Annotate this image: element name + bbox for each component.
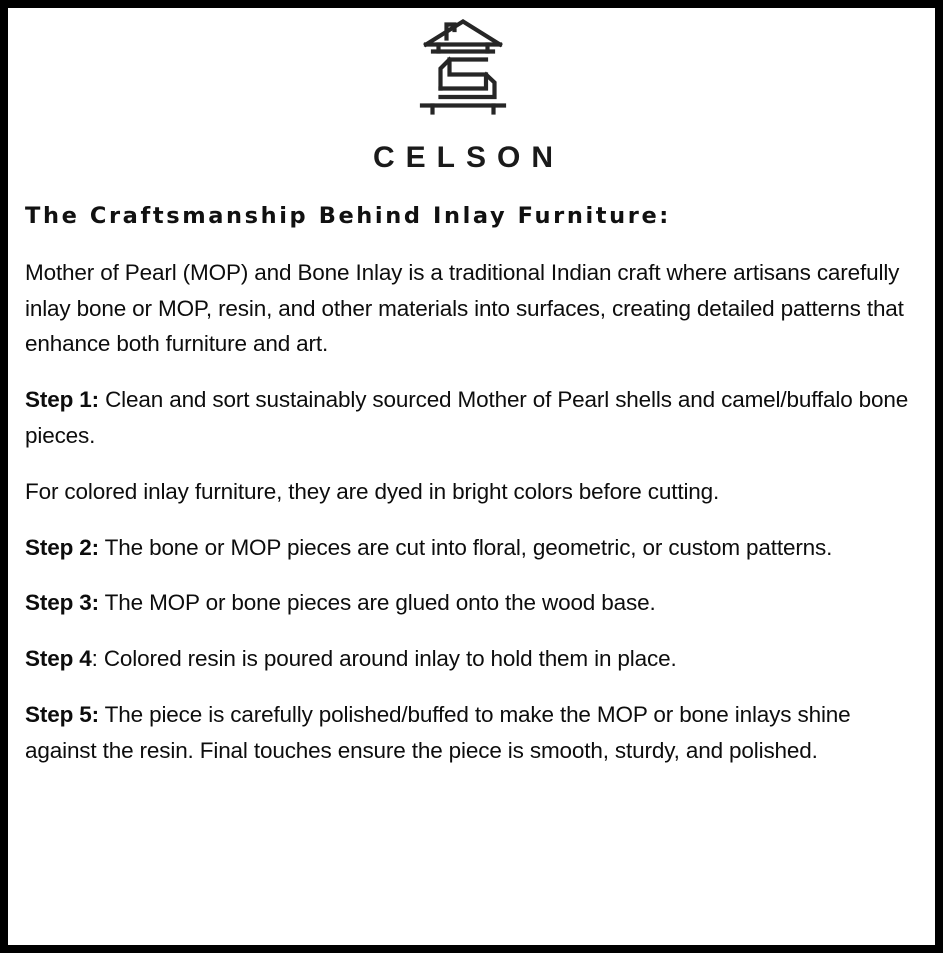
paragraph-step-1: Step 1: Clean and sort sustainably sourc… xyxy=(25,382,917,454)
paragraph-text: The bone or MOP pieces are cut into flor… xyxy=(99,535,832,560)
page-title: The Craftsmanship Behind Inlay Furniture… xyxy=(25,204,909,229)
house-monogram-logo-icon xyxy=(416,18,510,122)
paragraph-step-2: Step 2: The bone or MOP pieces are cut i… xyxy=(25,530,917,566)
brand-header: CELSON xyxy=(17,14,909,173)
poster-card: CELSON The Craftsmanship Behind Inlay Fu… xyxy=(0,0,943,953)
poster-content: CELSON The Craftsmanship Behind Inlay Fu… xyxy=(8,8,935,945)
paragraph-lead: Step 1: xyxy=(25,387,99,412)
paragraph-step-4: Step 4: Colored resin is poured around i… xyxy=(25,641,917,677)
paragraph-dye-note: For colored inlay furniture, they are dy… xyxy=(25,474,917,510)
paragraph-text: : Colored resin is poured around inlay t… xyxy=(92,646,677,671)
paragraph-lead: Step 3: xyxy=(25,590,99,615)
paragraph-lead: Step 4 xyxy=(25,646,92,671)
paragraph-lead: Step 2: xyxy=(25,535,99,560)
paragraph-step-5: Step 5: The piece is carefully polished/… xyxy=(25,697,917,769)
brand-wordmark: CELSON xyxy=(17,143,909,173)
article-body: Mother of Pearl (MOP) and Bone Inlay is … xyxy=(25,255,917,769)
paragraph-intro: Mother of Pearl (MOP) and Bone Inlay is … xyxy=(25,255,917,362)
paragraph-lead: Step 5: xyxy=(25,702,99,727)
paragraph-text: The piece is carefully polished/buffed t… xyxy=(25,702,851,763)
paragraph-step-3: Step 3: The MOP or bone pieces are glued… xyxy=(25,585,917,621)
paragraph-text: Clean and sort sustainably sourced Mothe… xyxy=(25,387,908,448)
paragraph-text: For colored inlay furniture, they are dy… xyxy=(25,479,719,504)
paragraph-text: Mother of Pearl (MOP) and Bone Inlay is … xyxy=(25,260,904,357)
paragraph-text: The MOP or bone pieces are glued onto th… xyxy=(99,590,656,615)
